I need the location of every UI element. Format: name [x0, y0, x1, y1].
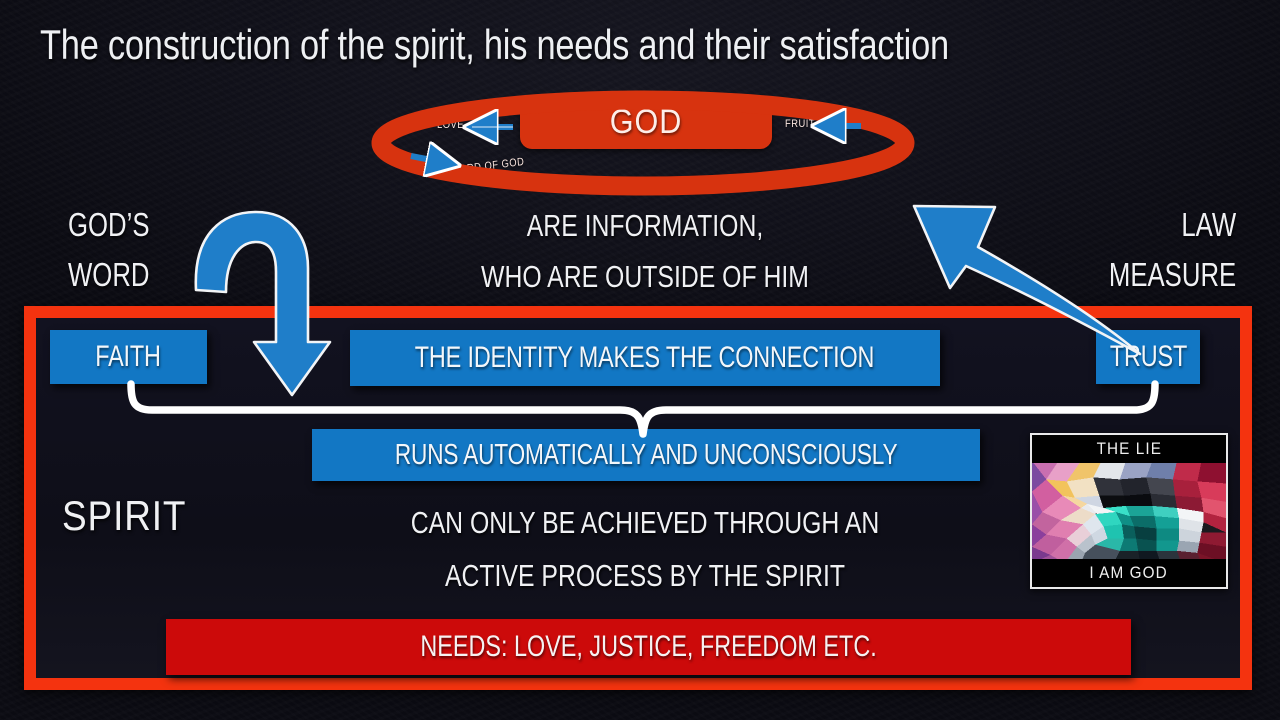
active-process-text: CAN ONLY BE ACHIEVED THROUGH AN ACTIVE P… — [335, 496, 955, 602]
gods-word-line1: GOD’S — [68, 200, 150, 250]
slide-canvas: The construction of the spirit, his need… — [0, 0, 1280, 720]
trust-box[interactable]: TRUST — [1096, 330, 1200, 384]
identity-label: THE IDENTITY MAKES THE CONNECTION — [415, 341, 874, 375]
runs-automatically-label: RUNS AUTOMATICALLY AND UNCONSCIOUSLY — [395, 439, 898, 472]
active-process-line2: ACTIVE PROCESS BY THE SPIRIT — [397, 549, 893, 602]
trust-label: TRUST — [1109, 340, 1186, 374]
ring-label-fruit: FRUIT — [785, 118, 815, 130]
needs-bar[interactable]: NEEDS: LOVE, JUSTICE, FREEDOM ETC. — [166, 619, 1131, 675]
the-lie-panel[interactable]: THE LIE — [1030, 433, 1228, 589]
information-line2: WHO ARE OUTSIDE OF HIM — [441, 251, 849, 302]
law-measure-label: LAW MEASURE — [1109, 200, 1236, 300]
god-box: GOD — [520, 99, 772, 149]
the-lie-caption-bottom: I AM GOD — [1032, 559, 1226, 587]
gods-word-line2: WORD — [68, 250, 150, 300]
ring-arrow-word-of-god — [411, 156, 452, 164]
runs-automatically-box[interactable]: RUNS AUTOMATICALLY AND UNCONSCIOUSLY — [312, 429, 980, 481]
information-line1: ARE INFORMATION, — [441, 200, 849, 251]
identity-box[interactable]: THE IDENTITY MAKES THE CONNECTION — [350, 330, 940, 386]
gods-word-label: GOD’S WORD — [68, 200, 150, 300]
needs-label: NEEDS: LOVE, JUSTICE, FREEDOM ETC. — [420, 630, 876, 664]
information-text: ARE INFORMATION, WHO ARE OUTSIDE OF HIM — [390, 200, 900, 302]
faith-label: FAITH — [96, 340, 162, 374]
spirit-label: SPIRIT — [62, 492, 186, 540]
law-line1: LAW — [1109, 200, 1236, 250]
low-poly-eye-image — [1032, 461, 1226, 563]
active-process-line1: CAN ONLY BE ACHIEVED THROUGH AN — [397, 496, 893, 549]
ring-label-love: LOVE — [437, 119, 464, 131]
god-label: GOD — [533, 103, 760, 142]
i-am-god-text: I AM GOD — [1090, 563, 1168, 583]
ring-label-word-of-god: WORD OF GOD — [449, 156, 524, 177]
the-lie-text: THE LIE — [1096, 439, 1161, 459]
faith-box[interactable]: FAITH — [50, 330, 207, 384]
the-lie-caption-top: THE LIE — [1032, 435, 1226, 463]
law-line2: MEASURE — [1109, 250, 1236, 300]
page-title: The construction of the spirit, his need… — [40, 22, 949, 68]
